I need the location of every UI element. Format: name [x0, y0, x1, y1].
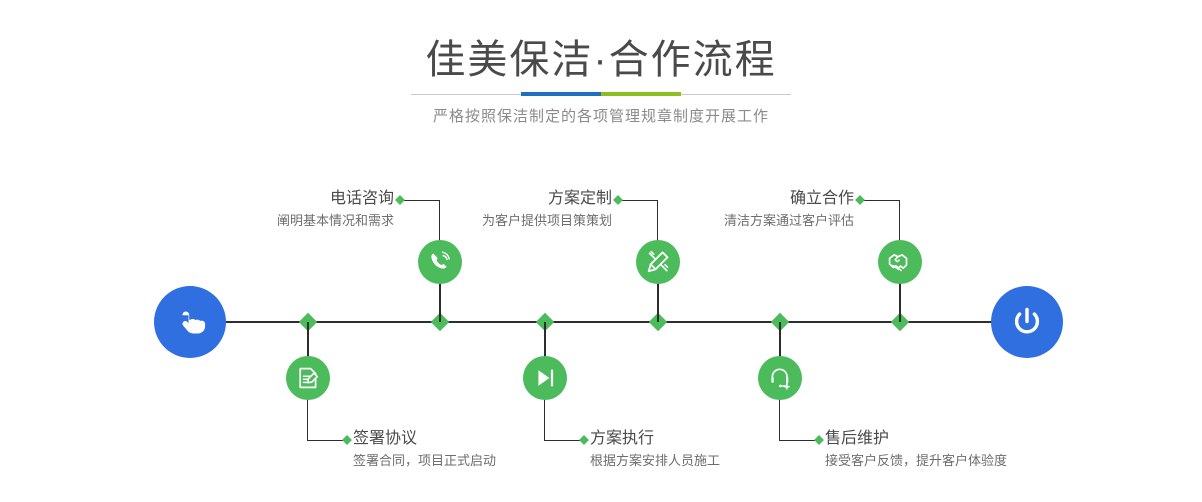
play-execute-icon: [532, 365, 558, 391]
pencil-ruler-icon: [645, 249, 671, 275]
callout-title: 方案执行: [590, 428, 850, 450]
callout-desc: 阐明基本情况和需求: [150, 211, 394, 231]
timeline-start-endpoint: [154, 286, 226, 358]
document-pen-icon: [295, 365, 321, 391]
divider-green-segment: [601, 92, 681, 96]
callout-plan-customize: 方案定制 为客户提供项目策策划: [368, 188, 612, 231]
callout-desc: 签署合同，项目正式启动: [353, 451, 613, 471]
title-divider: [411, 92, 791, 96]
tip-sign-agreement: [342, 435, 352, 445]
tip-establish-cooperation: [855, 195, 865, 205]
handshake-icon: [887, 249, 913, 275]
callout-after-sales: 售后维护 接受客户反馈，提升客户体验度: [825, 428, 1125, 471]
callout-desc: 为客户提供项目策策划: [368, 211, 612, 231]
page-title: 佳美保洁·合作流程: [0, 36, 1202, 84]
pointing-hand-icon: [170, 302, 210, 342]
node-sign-agreement[interactable]: [286, 356, 330, 400]
callout-plan-execute: 方案执行 根据方案安排人员施工: [590, 428, 850, 471]
callout-sign-agreement: 签署协议 签署合同，项目正式启动: [353, 428, 613, 471]
callout-title: 确立合作: [610, 188, 854, 210]
timeline-axis: [160, 321, 1042, 323]
node-plan-execute[interactable]: [523, 356, 567, 400]
node-establish-cooperation[interactable]: [878, 240, 922, 284]
callout-desc: 根据方案安排人员施工: [590, 451, 850, 471]
page-subtitle: 严格按照保洁制定的各项管理规章制度开展工作: [0, 105, 1202, 129]
node-after-sales[interactable]: [758, 356, 802, 400]
callout-establish-cooperation: 确立合作 清洁方案通过客户评估: [610, 188, 854, 231]
divider-blue-segment: [521, 92, 601, 96]
callout-phone-consult: 电话咨询 阐明基本情况和需求: [150, 188, 394, 231]
callout-desc: 接受客户反馈，提升客户体验度: [825, 451, 1125, 471]
timeline-end-endpoint: [991, 286, 1063, 358]
phone-call-icon: [427, 249, 453, 275]
callout-desc: 清洁方案通过客户评估: [610, 211, 854, 231]
callout-title: 方案定制: [368, 188, 612, 210]
callout-title: 签署协议: [353, 428, 613, 450]
callout-title: 电话咨询: [150, 188, 394, 210]
callout-title: 售后维护: [825, 428, 1125, 450]
node-phone-consult[interactable]: [418, 240, 462, 284]
power-icon: [1007, 302, 1047, 342]
node-plan-customize[interactable]: [636, 240, 680, 284]
process-flow-infographic: 佳美保洁·合作流程 严格按照保洁制定的各项管理规章制度开展工作: [0, 0, 1202, 502]
headset-support-icon: [767, 365, 793, 391]
